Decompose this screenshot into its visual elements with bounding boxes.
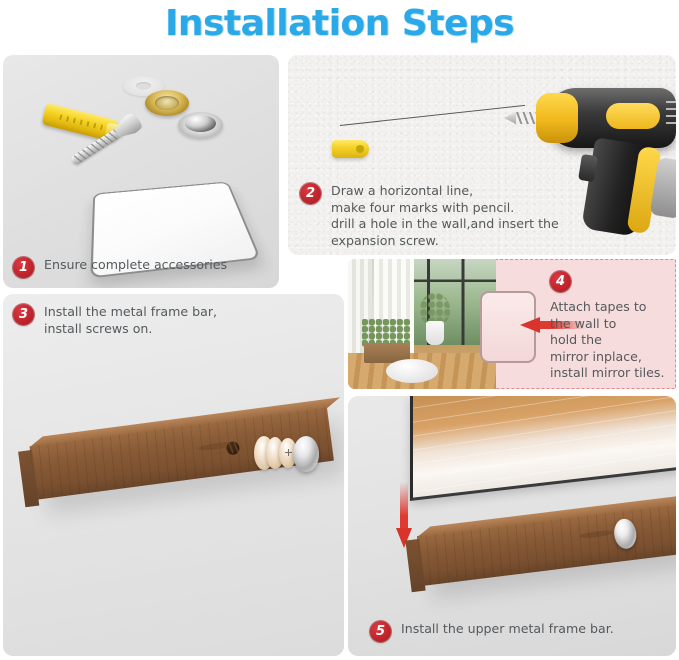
step-1-text: Ensure complete accessories xyxy=(44,257,227,274)
step-3-panel: 3 Install the metal frame bar, install s… xyxy=(3,294,344,656)
step-2-panel: 2 Draw a horizontal line, make four mark… xyxy=(288,55,676,255)
chrome-cap-icon xyxy=(178,112,223,138)
floor-pouf xyxy=(386,359,438,383)
step-5-panel: 5 Install the upper metal frame bar. xyxy=(348,396,676,656)
drill-accent xyxy=(606,103,660,129)
step-2-badge: 2 xyxy=(300,183,321,204)
step-5-caption: 5 Install the upper metal frame bar. xyxy=(370,621,614,642)
step-2-text: Draw a horizontal line, make four marks … xyxy=(331,183,559,249)
step-5-text: Install the upper metal frame bar. xyxy=(401,621,614,638)
mirror-panel xyxy=(410,396,676,501)
plant-pot xyxy=(426,321,444,345)
step-4-caption: 4 Attach tapes to the wall to hold the m… xyxy=(550,271,664,382)
drill-chuck xyxy=(536,93,578,143)
step-1-caption: 1 Ensure complete accessories xyxy=(13,257,227,278)
step-3-badge: 3 xyxy=(13,304,34,325)
step-4-badge: 4 xyxy=(550,271,571,292)
gold-ring-icon xyxy=(145,90,189,116)
step-1-badge: 1 xyxy=(13,257,34,278)
anchor-ribs xyxy=(59,115,103,130)
step-4-panel: 4 Attach tapes to the wall to hold the m… xyxy=(348,259,676,389)
mirror-reflection-lines xyxy=(413,396,676,498)
step-4-text: Attach tapes to the wall to hold the mir… xyxy=(550,299,664,382)
page-title: Installation Steps xyxy=(0,2,679,46)
yellow-expansion-screw-icon xyxy=(332,140,369,158)
down-arrow-icon xyxy=(396,482,412,548)
step-2-caption: 2 Draw a horizontal line, make four mark… xyxy=(300,183,559,249)
upper-wood-frame-bar xyxy=(417,504,676,586)
room-photo xyxy=(348,259,496,389)
drill-vents xyxy=(666,101,676,129)
step-3-text: Install the metal frame bar, install scr… xyxy=(44,304,217,337)
step-5-badge: 5 xyxy=(370,621,391,642)
step-1-panel: 1 Ensure complete accessories xyxy=(3,55,279,288)
chrome-knob-icon xyxy=(293,436,319,472)
step-3-caption: 3 Install the metal frame bar, install s… xyxy=(13,304,217,337)
